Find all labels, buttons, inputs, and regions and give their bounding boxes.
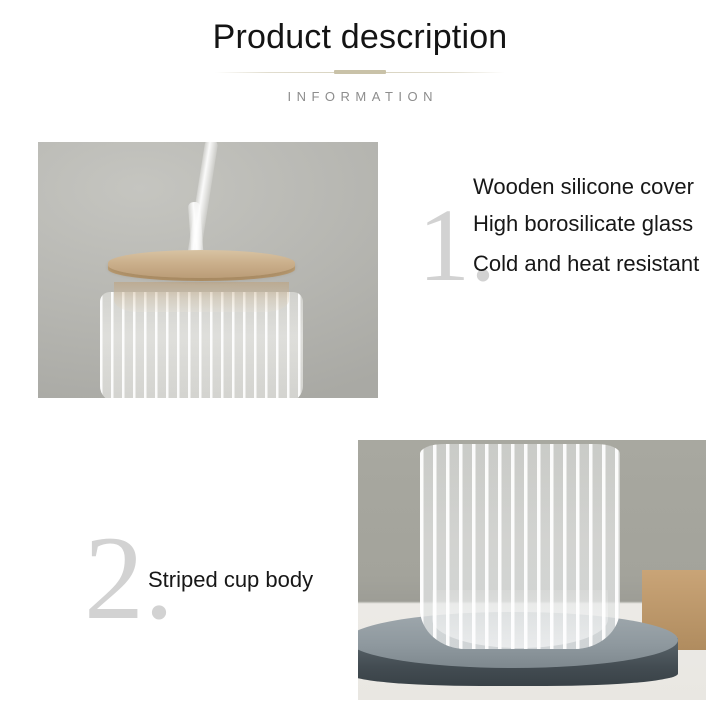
feature-block-1: 1. Wooden silicone cover High borosilica… [412, 170, 720, 340]
feature-1-line-1: Wooden silicone cover [473, 176, 720, 198]
silicone-ring [114, 282, 289, 312]
feature-2-line-1: Striped cup body [148, 567, 313, 593]
feature-1-line-3: Cold and heat resistant [473, 253, 720, 275]
page-header: Product description INFORMATION [0, 0, 720, 104]
title-divider [215, 69, 505, 77]
divider-center-accent [334, 70, 386, 74]
cup-base-highlight [432, 590, 608, 648]
photo-right-margin [706, 430, 720, 716]
feature-block-2: 2. Striped cup body [80, 512, 360, 652]
feature-1-lines: Wooden silicone cover High borosilicate … [473, 170, 720, 275]
product-photo-body [358, 440, 706, 700]
wooden-lid-top [108, 250, 295, 278]
product-photo-lid [38, 142, 378, 398]
page-title: Product description [0, 0, 720, 59]
page-subtitle: INFORMATION [0, 89, 720, 104]
feature-1-line-2: High borosilicate glass [473, 213, 720, 235]
